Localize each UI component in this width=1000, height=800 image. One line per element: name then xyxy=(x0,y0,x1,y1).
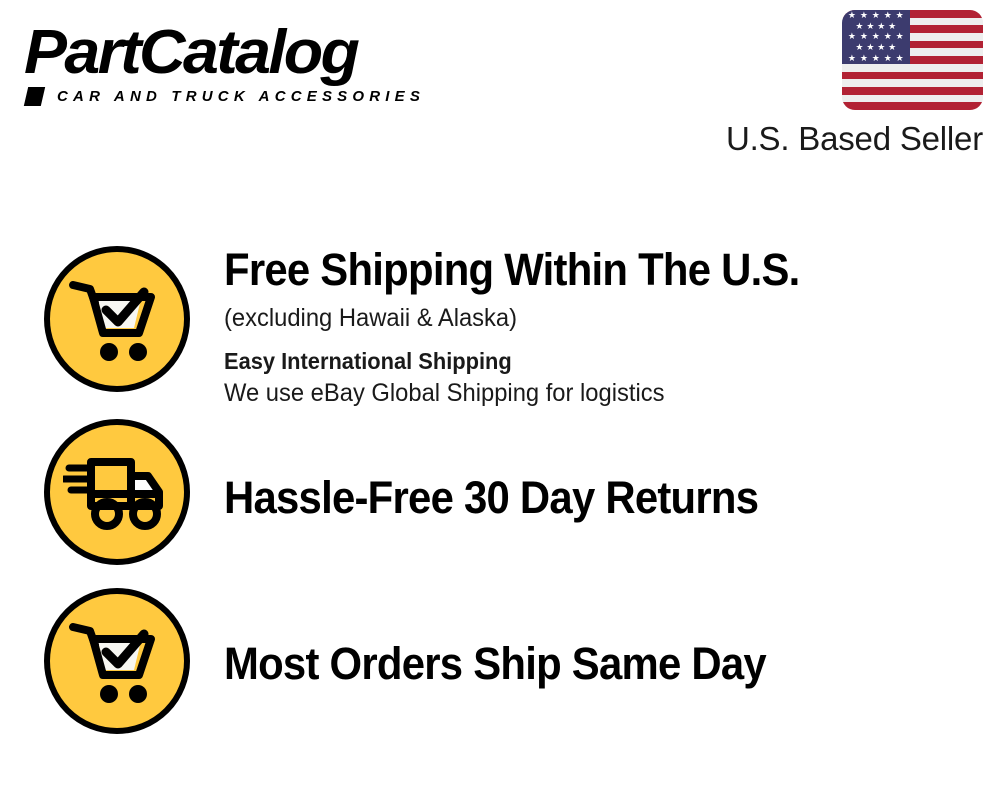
brand-tagline-row: CAR AND TRUCK ACCESSORIES xyxy=(26,87,494,106)
feature-headline: Most Orders Ship Same Day xyxy=(224,640,946,689)
feature-text-block: Free Shipping Within The U.S. (excluding… xyxy=(190,238,1000,409)
promo-banner: PartCatalog CAR AND TRUCK ACCESSORIES xyxy=(0,0,1000,800)
feature-headline: Hassle-Free 30 Day Returns xyxy=(224,474,946,523)
brand-tagline: CAR AND TRUCK ACCESSORIES xyxy=(57,88,425,105)
feature-note: (excluding Hawaii & Alaska) xyxy=(224,302,961,334)
feature-sub-text: We use eBay Global Shipping for logistic… xyxy=(224,377,961,409)
feature-list: Free Shipping Within The U.S. (excluding… xyxy=(0,238,1000,760)
shopping-cart-check-icon xyxy=(44,588,190,734)
feature-row: Most Orders Ship Same Day xyxy=(0,588,1000,760)
us-flag-icon: ★★★★★ ★★★★ ★★★★★ ★★★★ ★★★★★ xyxy=(842,10,983,110)
feature-row: Hassle-Free 30 Day Returns xyxy=(0,416,1000,588)
delivery-truck-icon xyxy=(44,419,190,565)
seller-label: U.S. Based Seller xyxy=(713,120,983,158)
feature-headline: Free Shipping Within The U.S. xyxy=(224,246,946,295)
feature-sub-heading: Easy International Shipping xyxy=(224,347,961,376)
flag-canton: ★★★★★ ★★★★ ★★★★★ ★★★★ ★★★★★ xyxy=(842,10,910,64)
us-based-seller-badge: ★★★★★ ★★★★ ★★★★★ ★★★★ ★★★★★ U.S. Based S… xyxy=(713,10,983,158)
shopping-cart-check-icon xyxy=(44,246,190,392)
feature-text-block: Most Orders Ship Same Day xyxy=(190,588,1000,689)
slash-mark-icon xyxy=(24,87,45,106)
feature-text-block: Hassle-Free 30 Day Returns xyxy=(190,416,1000,523)
brand-logo: PartCatalog CAR AND TRUCK ACCESSORIES xyxy=(24,22,494,106)
feature-row: Free Shipping Within The U.S. (excluding… xyxy=(0,238,1000,416)
banner-header: PartCatalog CAR AND TRUCK ACCESSORIES xyxy=(0,0,1000,175)
brand-wordmark: PartCatalog xyxy=(24,22,513,84)
